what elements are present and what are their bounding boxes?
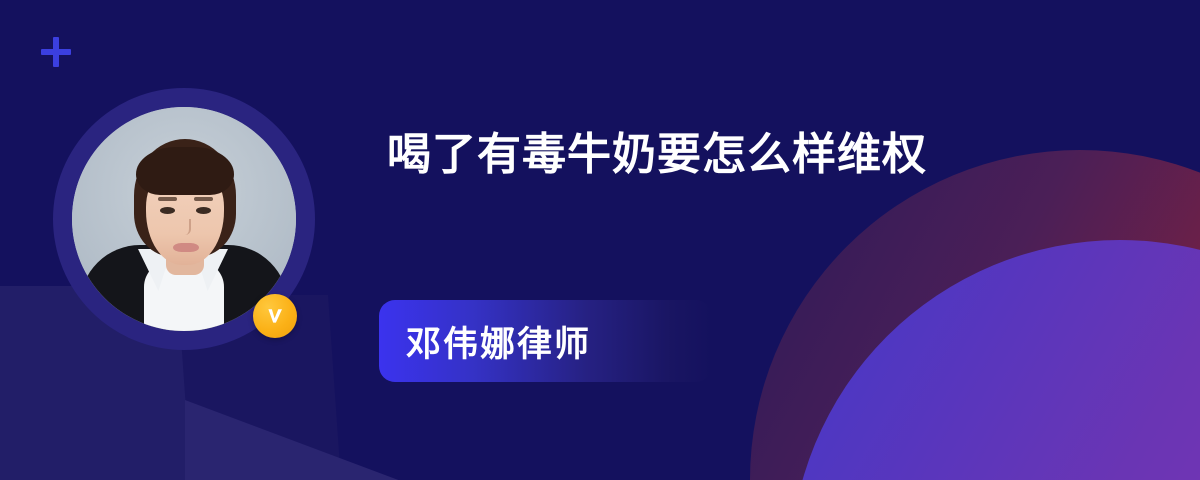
portrait-eyebrow-left: [158, 197, 177, 201]
portrait-eye-right: [196, 207, 211, 214]
portrait-eye-left: [160, 207, 175, 214]
verified-v-icon: [253, 294, 297, 338]
portrait-mouth: [173, 243, 199, 252]
page-title: 喝了有毒牛奶要怎么样维权: [387, 121, 1027, 188]
text-content: 喝了有毒牛奶要怎么样维权: [387, 121, 1077, 188]
plus-icon-bar-vertical: [53, 37, 59, 67]
lawyer-answer-card: 喝了有毒牛奶要怎么样维权 邓伟娜律师: [0, 0, 1200, 480]
portrait-bangs: [136, 147, 234, 195]
plus-icon: [41, 37, 71, 67]
avatar[interactable]: [53, 88, 315, 350]
portrait-eyebrow-right: [194, 197, 213, 201]
portrait-nose: [181, 219, 191, 235]
lawyer-name-button[interactable]: 邓伟娜律师: [379, 300, 712, 382]
